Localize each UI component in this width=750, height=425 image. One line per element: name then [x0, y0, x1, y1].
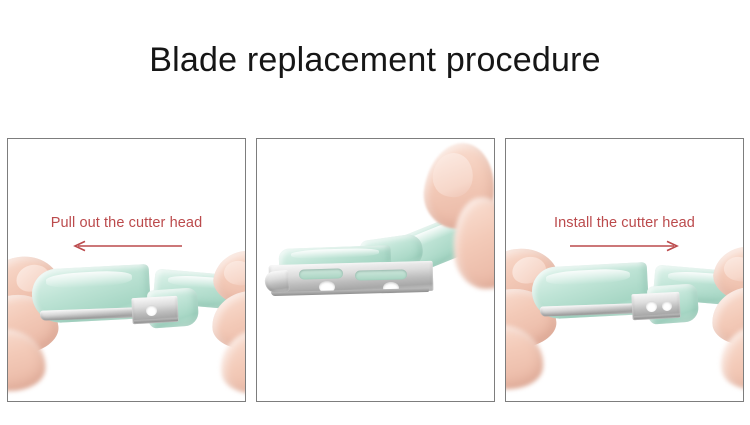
panel-blade-exposed: [256, 138, 495, 402]
arrow-right-icon: [566, 239, 684, 253]
arrow-left-icon: [68, 239, 186, 253]
blade-notch: [646, 301, 657, 312]
blade-notch: [146, 305, 157, 316]
panel-pull-out: Pull out the cutter head: [7, 138, 246, 402]
illustration-install: [506, 139, 743, 401]
blade-notch: [662, 301, 672, 311]
illustration-pull-out: [8, 139, 245, 401]
blade-slot: [355, 269, 407, 280]
blade-tip: [264, 270, 290, 294]
arrow-left-wrap: [8, 239, 245, 255]
page-title: Blade replacement procedure: [0, 38, 750, 82]
panel-caption: Pull out the cutter head: [8, 215, 245, 231]
arrow-right-wrap: [506, 239, 743, 255]
blade-slot: [299, 268, 343, 279]
panel-caption: Install the cutter head: [506, 215, 743, 231]
panel-row: Pull out the cutter head: [0, 138, 750, 404]
illustration-blade-exposed: [257, 139, 494, 401]
panel-install: Install the cutter head: [505, 138, 744, 402]
